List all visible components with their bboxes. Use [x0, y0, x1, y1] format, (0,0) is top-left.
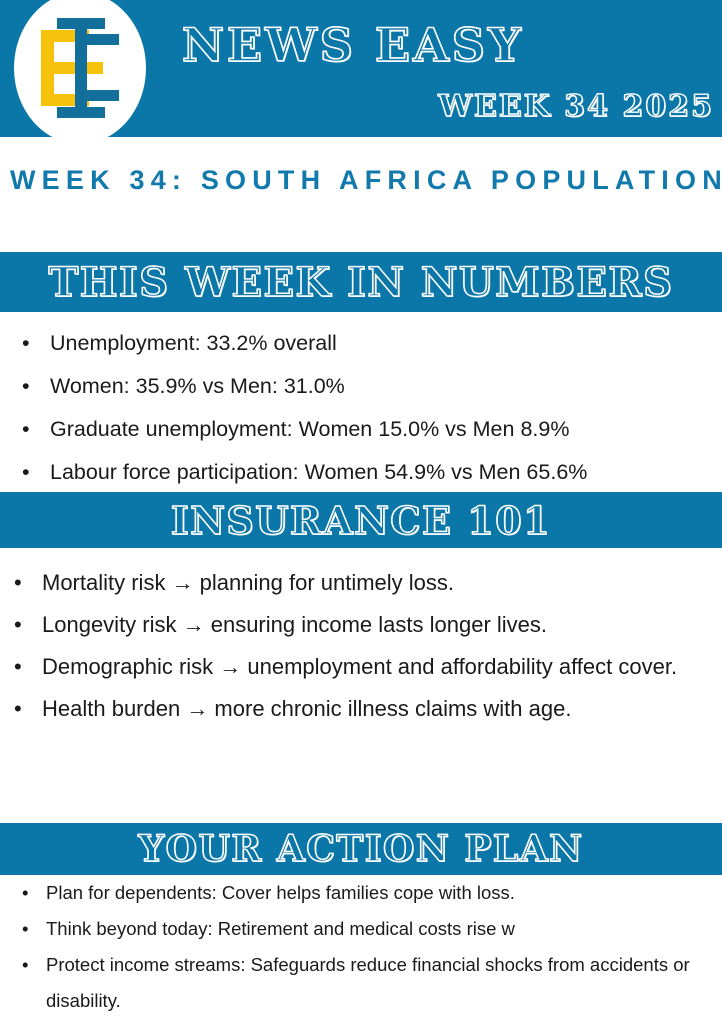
section-header-numbers: THIS WEEK IN NUMBERS — [0, 252, 722, 312]
bullet-icon: • — [22, 911, 28, 947]
list-item-text: Women: 35.9% vs Men: 31.0% — [50, 365, 712, 408]
list-item-text: Graduate unemployment: Women 15.0% vs Me… — [50, 408, 712, 451]
masthead: NEWS EASY WEEK 34 2025 — [0, 0, 722, 137]
list-item-text: Unemployment: 33.2% overall — [50, 322, 712, 365]
bullet-icon: • — [22, 408, 30, 451]
list-item-text: Demographic risk → unemployment and affo… — [42, 646, 714, 688]
list-item-text: Mortality risk → planning for untimely l… — [42, 562, 714, 604]
logo-monogram-icon — [37, 16, 123, 120]
section-header-action-plan: YOUR ACTION PLAN — [0, 823, 722, 875]
list-item: • Unemployment: 33.2% overall — [22, 322, 712, 365]
list-item-text: Think beyond today: Retirement and medic… — [46, 911, 712, 947]
list-item: • Graduate unemployment: Women 15.0% vs … — [22, 408, 712, 451]
bullet-icon: • — [22, 365, 30, 408]
section-title-insurance: INSURANCE 101 — [171, 498, 551, 543]
bullet-icon: • — [22, 322, 30, 365]
bullet-icon: • — [14, 562, 22, 604]
list-item: • Longevity risk → ensuring income lasts… — [14, 604, 714, 646]
list-item: • Labour force participation: Women 54.9… — [22, 451, 712, 494]
list-item-text: Health burden → more chronic illness cla… — [42, 688, 714, 730]
list-item-text: Plan for dependents: Cover helps familie… — [46, 875, 712, 911]
list-item: • Mortality risk → planning for untimely… — [14, 562, 714, 604]
news-easy-logo — [14, 0, 146, 144]
bullet-icon: • — [14, 646, 22, 688]
numbers-list: • Unemployment: 33.2% overall • Women: 3… — [22, 322, 712, 494]
bullet-icon: • — [14, 688, 22, 730]
list-item: • Plan for dependents: Cover helps famil… — [22, 875, 712, 911]
bullet-icon: • — [22, 947, 28, 983]
bullet-icon: • — [22, 451, 30, 494]
list-item: • Protect income streams: Safeguards red… — [22, 947, 712, 1019]
section-title-action-plan: YOUR ACTION PLAN — [138, 828, 583, 870]
brand-title: NEWS EASY — [182, 18, 524, 72]
insurance-list: • Mortality risk → planning for untimely… — [14, 562, 714, 730]
section-header-insurance: INSURANCE 101 — [0, 492, 722, 548]
bullet-icon: • — [14, 604, 22, 646]
bullet-icon: • — [22, 875, 28, 911]
list-item: • Demographic risk → unemployment and af… — [14, 646, 714, 688]
issue-label: WEEK 34 2025 — [438, 89, 714, 124]
section-title-numbers: THIS WEEK IN NUMBERS — [48, 259, 673, 306]
list-item-text: Labour force participation: Women 54.9% … — [50, 451, 712, 494]
list-item-text: Protect income streams: Safeguards reduc… — [46, 947, 712, 1019]
list-item-text: Longevity risk → ensuring income lasts l… — [42, 604, 714, 646]
list-item: • Women: 35.9% vs Men: 31.0% — [22, 365, 712, 408]
list-item: • Health burden → more chronic illness c… — [14, 688, 714, 730]
action-plan-list: • Plan for dependents: Cover helps famil… — [22, 875, 712, 1019]
page-subtitle: WEEK 34: SOUTH AFRICA POPULATION — [10, 165, 722, 196]
list-item: • Think beyond today: Retirement and med… — [22, 911, 712, 947]
